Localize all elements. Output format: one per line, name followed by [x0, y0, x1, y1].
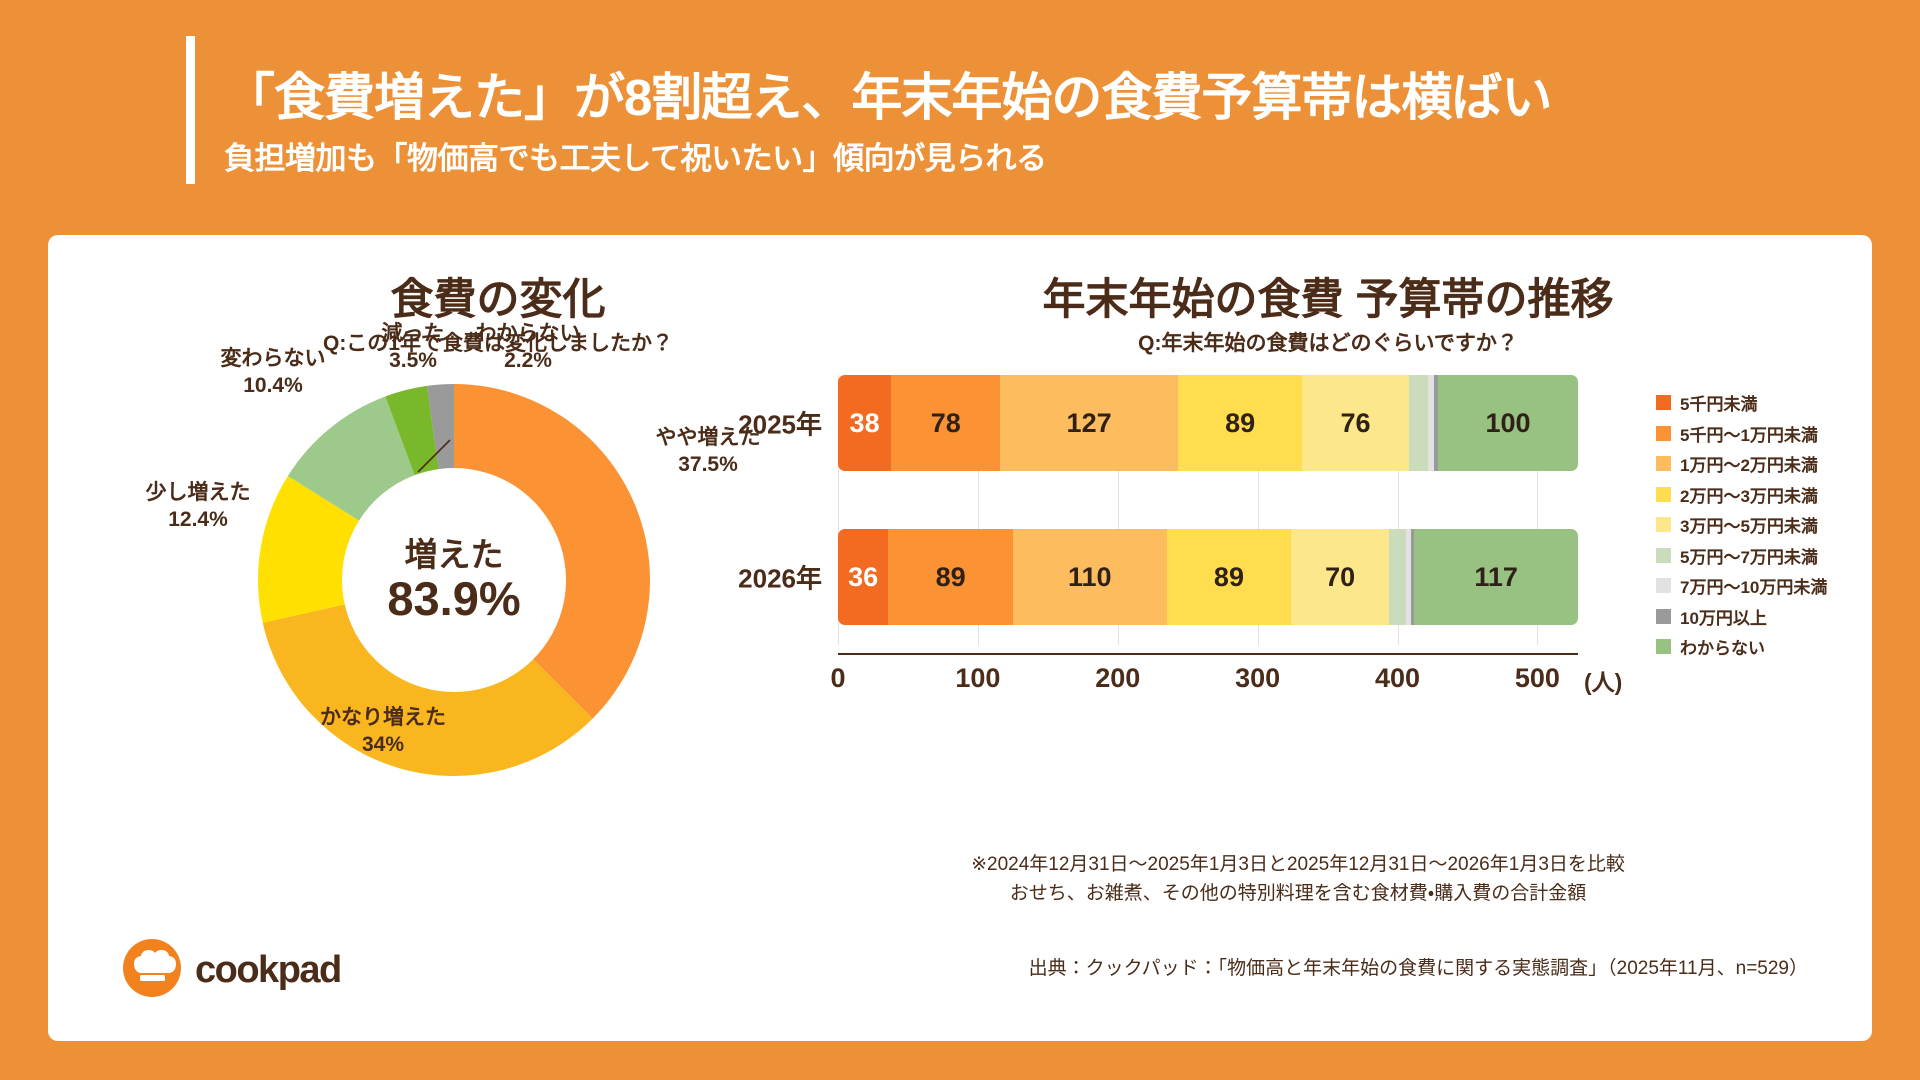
donut-label-kanari: かなり増えた 34%	[293, 705, 473, 759]
cookpad-wordmark: cookpad	[195, 949, 341, 992]
x-tick-200: 200	[1095, 663, 1140, 694]
legend-item-6[interactable]: 7万円〜10万円未満	[1656, 573, 1886, 598]
legend-swatch-icon	[1656, 639, 1671, 654]
donut-label-kanari-text: かなり増えた	[293, 705, 473, 732]
legend-swatch-icon	[1656, 548, 1671, 563]
bar-segment-1: 78	[891, 375, 1000, 471]
bar-segment-5	[1409, 375, 1429, 471]
bar-chart-question: Q:年末年始の食費はどのぐらいですか？	[928, 327, 1728, 357]
donut-label-sukoshi: 少し増えた 12.4%	[118, 480, 278, 534]
bar-segment-3: 89	[1167, 529, 1291, 625]
bar-segment-0: 36	[838, 529, 888, 625]
legend-label: 3万円〜5万円未満	[1680, 512, 1818, 537]
content-card: 食費の変化 Q:この1年で食費は変化しましたか？ 増えた 83.9% やや増えた…	[48, 235, 1872, 1041]
donut-label-kawaranai-text: 変わらない	[193, 346, 353, 373]
bar-segment-4: 70	[1291, 529, 1389, 625]
bar-segment-value: 78	[931, 408, 961, 439]
legend-item-8[interactable]: わからない	[1656, 634, 1886, 659]
page-subtitle: 負担増加も「物価高でも工夫して祝いたい」傾向が見られる	[224, 133, 1047, 178]
bar-segment-value: 89	[1214, 562, 1244, 593]
header: 「食費増えた」が8割超え、年末年始の食費予算帯は横ばい 負担増加も「物価高でも工…	[186, 30, 1866, 190]
legend-item-2[interactable]: 1万円〜2万円未満	[1656, 451, 1886, 476]
bar-segment-8: 117	[1414, 529, 1578, 625]
donut-label-yaya-value: 37.5%	[628, 452, 788, 479]
bar-segment-2: 110	[1013, 529, 1167, 625]
bar-segment-1: 89	[888, 529, 1012, 625]
donut-label-wakaranai-text: わからない	[448, 321, 608, 348]
legend-swatch-icon	[1656, 578, 1671, 593]
legend-swatch-icon	[1656, 487, 1671, 502]
source-note: 出典：クックパッド：「物価高と年末年始の食費に関する実態調査」（2025年11月…	[748, 953, 1808, 980]
bar-stack: 38781278976100	[838, 375, 1578, 471]
bar-stack: 36891108970117	[838, 529, 1578, 625]
footnote-line-1: ※2024年12月31日〜2025年1月3日と2025年12月31日〜2026年…	[808, 850, 1788, 879]
bar-segment-value: 38	[850, 408, 880, 439]
bar-segment-value: 127	[1067, 408, 1112, 439]
bar-row: 2026年36891108970117	[838, 529, 1738, 625]
legend-item-7[interactable]: 10万円以上	[1656, 604, 1886, 629]
cookpad-logo: cookpad	[123, 935, 403, 1005]
bar-segment-value: 76	[1341, 408, 1371, 439]
legend-label: 1万円〜2万円未満	[1680, 451, 1818, 476]
bar-segment-value: 70	[1325, 562, 1355, 593]
legend-item-3[interactable]: 2万円〜3万円未満	[1656, 482, 1886, 507]
bar-segment-value: 89	[1225, 408, 1255, 439]
legend-swatch-icon	[1656, 395, 1671, 410]
bar-segment-4: 76	[1302, 375, 1408, 471]
footnote: ※2024年12月31日〜2025年1月3日と2025年12月31日〜2026年…	[808, 850, 1788, 909]
bar-segment-value: 117	[1474, 562, 1518, 593]
infographic-root: 「食費増えた」が8割超え、年末年始の食費予算帯は横ばい 負担増加も「物価高でも工…	[0, 0, 1920, 1080]
bar-segment-5	[1389, 529, 1406, 625]
chef-hat-icon	[123, 939, 181, 997]
bar-chart-title: 年末年始の食費 予算帯の推移	[928, 265, 1728, 327]
donut-label-wakaranai: わからない 2.2%	[448, 321, 608, 375]
bar-segment-value: 89	[936, 562, 966, 593]
bar-segment-value: 36	[848, 562, 878, 593]
donut-label-kawaranai: 変わらない 10.4%	[193, 346, 353, 400]
page-title: 「食費増えた」が8割超え、年末年始の食費予算帯は横ばい	[224, 56, 1551, 130]
donut-label-wakaranai-value: 2.2%	[448, 348, 608, 375]
legend-item-5[interactable]: 5万円〜7万円未満	[1656, 543, 1886, 568]
legend-label: 10万円以上	[1680, 604, 1767, 629]
bar-chart-x-axis: 0100200300400500 (人)	[838, 653, 1738, 703]
legend-label: わからない	[1680, 634, 1765, 659]
legend-label: 5千円未満	[1680, 390, 1757, 415]
footnote-line-2: おせち、お雑煮、その他の特別料理を含む食材費・購入費の合計金額	[808, 879, 1788, 908]
donut-label-sukoshi-value: 12.4%	[118, 507, 278, 534]
x-tick-300: 300	[1235, 663, 1280, 694]
legend-swatch-icon	[1656, 609, 1671, 624]
donut-label-kanari-value: 34%	[293, 732, 473, 759]
header-accent-bar	[186, 36, 195, 184]
legend-swatch-icon	[1656, 517, 1671, 532]
donut-chart-title: 食費の変化	[158, 265, 838, 327]
legend-item-0[interactable]: 5千円未満	[1656, 390, 1886, 415]
bar-segment-value: 110	[1068, 562, 1112, 593]
legend-item-1[interactable]: 5千円〜1万円未満	[1656, 421, 1886, 446]
x-tick-100: 100	[955, 663, 1000, 694]
bar-segment-0: 38	[838, 375, 891, 471]
legend-label: 7万円〜10万円未満	[1680, 573, 1827, 598]
legend-label: 5万円〜7万円未満	[1680, 543, 1818, 568]
legend-label: 5千円〜1万円未満	[1680, 421, 1818, 446]
x-tick-500: 500	[1515, 663, 1560, 694]
x-tick-400: 400	[1375, 663, 1420, 694]
legend-swatch-icon	[1656, 426, 1671, 441]
bar-chart-legend: 5千円未満5千円〜1万円未満1万円〜2万円未満2万円〜3万円未満3万円〜5万円未…	[1656, 390, 1886, 665]
bar-segment-value: 100	[1485, 408, 1530, 439]
axis-unit-label: (人)	[1584, 663, 1622, 697]
bar-row: 2025年38781278976100	[838, 375, 1738, 471]
legend-swatch-icon	[1656, 456, 1671, 471]
bar-row-label-2026年: 2026年	[738, 559, 822, 596]
donut-label-kawaranai-value: 10.4%	[193, 373, 353, 400]
bar-segment-2: 127	[1000, 375, 1178, 471]
bar-segment-3: 89	[1178, 375, 1302, 471]
axis-line	[838, 653, 1578, 655]
bar-segment-8: 100	[1438, 375, 1578, 471]
donut-label-sukoshi-text: 少し増えた	[118, 480, 278, 507]
bar-row-label-2025年: 2025年	[738, 405, 822, 442]
legend-label: 2万円〜3万円未満	[1680, 482, 1818, 507]
legend-item-4[interactable]: 3万円〜5万円未満	[1656, 512, 1886, 537]
x-tick-0: 0	[830, 663, 845, 694]
chef-hat-glyph	[123, 939, 181, 997]
